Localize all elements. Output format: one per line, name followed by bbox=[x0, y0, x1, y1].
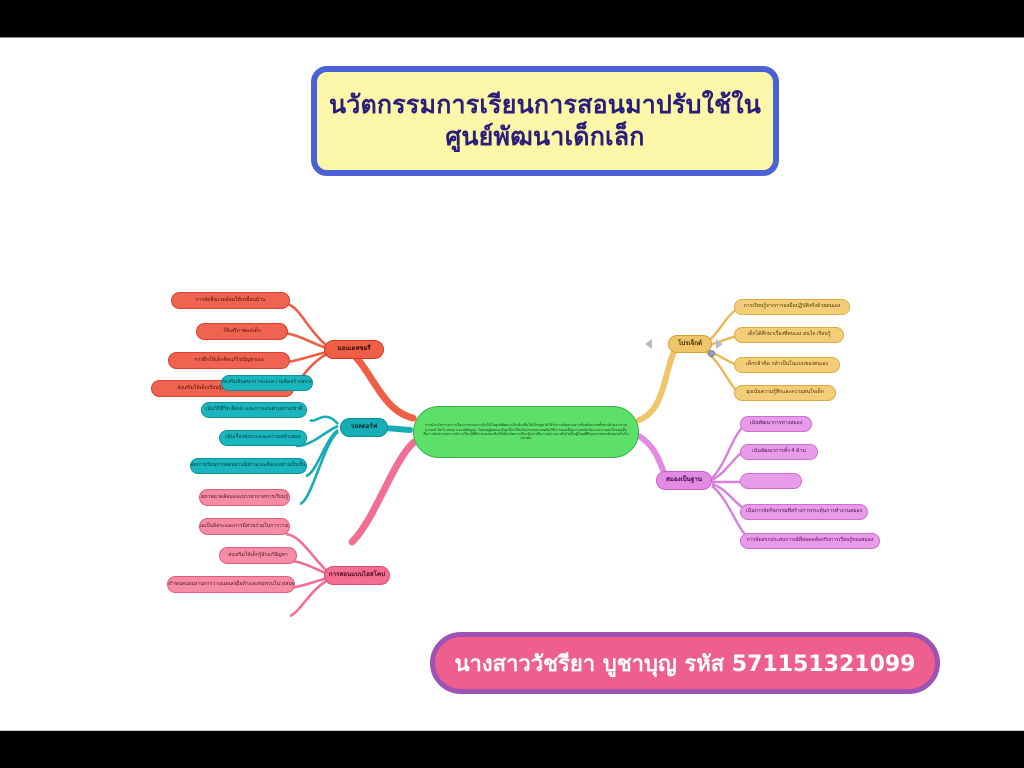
leaf-label-highscope-3: ส่งเสริมให้เด็กรู้จักแก้ปัญหา bbox=[228, 553, 287, 558]
slide-root: นวัตกรรมการเรียนการสอนมาปรับใช้ใน ศูนย์พ… bbox=[0, 0, 1024, 768]
leaf-node-montessori-1[interactable]: การจัดสิ่งแวดล้อมให้เหมือนบ้าน bbox=[171, 292, 290, 309]
letterbox-top bbox=[0, 0, 1024, 37]
branch-label-highscope: การสอนแบบไฮสโคป bbox=[329, 572, 385, 579]
leaf-label-project-2: เด็กได้ศึกษาเรื่องที่ตนเอง สนใจ เรียนรู้ bbox=[748, 332, 831, 337]
leaf-label-project-1: การเรียนรู้จากการลงมือปฏิบัติจริงด้วยตนเ… bbox=[744, 304, 841, 309]
leaf-node-montessori-2[interactable]: ให้เสรีภาพแก่เด็ก bbox=[196, 323, 288, 340]
leaf-node-project-2[interactable]: เด็กได้ศึกษาเรื่องที่ตนเอง สนใจ เรียนรู้ bbox=[734, 327, 844, 343]
leaf-node-highscope-3[interactable]: ส่งเสริมให้เด็กรู้จักแก้ปัญหา bbox=[219, 547, 297, 564]
leaf-label-brain-based-4: เน้นการจัดกิจกรรมที่สร้างการกระตุ้นการทำ… bbox=[746, 509, 862, 514]
branch-label-waldorf: วอลดอร์ฟ bbox=[351, 424, 377, 431]
leaf-label-brain-based-5: การจัดสรรประสบการณ์ที่สอดคล้องกับการเรีย… bbox=[747, 538, 874, 543]
branch-label-montessori: มอนเตสซอรี่ bbox=[337, 346, 370, 353]
branch-label-brain-based: สมองเป็นฐาน bbox=[666, 477, 702, 484]
leaf-node-waldorf-2[interactable]: เน้นวิถีชีวิต ศิลปะ และการเล่นตามธรรมชาต… bbox=[201, 402, 307, 418]
leaf-label-highscope-1: สภาพแวดล้อมและบรรยากาศการเรียนรู้ bbox=[201, 495, 288, 500]
leaf-label-brain-based-1: เน้นพัฒนาการทางสมอง bbox=[750, 421, 802, 426]
leaf-node-brain-based-1[interactable]: เน้นพัฒนาการทางสมอง bbox=[740, 416, 812, 432]
leaf-label-highscope-2: ความเป็นอิสระและการมีส่วนร่วมในการวางแผน bbox=[199, 524, 290, 529]
letterbox-bottom bbox=[0, 731, 1024, 768]
leaf-node-waldorf-1[interactable]: ส่งเสริมจินตนาการและความคิดสร้างสรรค์ bbox=[221, 375, 313, 391]
mindmap: การนำนวัตกรรมการเรียนการสอนมาปรับใช้ในศู… bbox=[0, 38, 1024, 731]
leaf-label-waldorf-4: การจัดการเรียนการสอนผ่านนิทานและศิลปะอย่… bbox=[190, 463, 307, 468]
leaf-node-project-1[interactable]: การเรียนรู้จากการลงมือปฏิบัติจริงด้วยตนเ… bbox=[734, 299, 850, 315]
slide-canvas: นวัตกรรมการเรียนการสอนมาปรับใช้ใน ศูนย์พ… bbox=[0, 37, 1024, 731]
leaf-node-highscope-4[interactable]: การกำหนดแผนงานการวางแผนลงมือทำและทบทวนใน… bbox=[167, 576, 295, 593]
leaf-node-waldorf-3[interactable]: เน้นเรื่องจังหวะและความสม่ำเสมอ bbox=[219, 430, 307, 446]
slide-footer-box: นางสาววัชรียา บูชาบุญ รหัส 571151321099 bbox=[430, 632, 940, 694]
branch-node-montessori[interactable]: มอนเตสซอรี่ bbox=[324, 340, 384, 359]
leaf-node-montessori-3[interactable]: การฝึกให้เด็กคิดแก้ไขปัญหาเอง bbox=[168, 352, 290, 369]
branch-node-brain-based[interactable]: สมองเป็นฐาน bbox=[656, 471, 712, 490]
leaf-node-highscope-1[interactable]: สภาพแวดล้อมและบรรยากาศการเรียนรู้ bbox=[199, 489, 290, 506]
leaf-label-brain-based-2: เน้นพัฒนาการทั้ง 4 ด้าน bbox=[752, 449, 806, 454]
leaf-label-waldorf-1: ส่งเสริมจินตนาการและความคิดสร้างสรรค์ bbox=[221, 380, 313, 385]
leaf-label-waldorf-3: เน้นเรื่องจังหวะและความสม่ำเสมอ bbox=[225, 435, 300, 440]
leaf-node-brain-based-3[interactable] bbox=[740, 473, 802, 489]
leaf-label-highscope-4: การกำหนดแผนงานการวางแผนลงมือทำและทบทวนใน… bbox=[167, 582, 295, 587]
leaf-node-brain-based-2[interactable]: เน้นพัฒนาการทั้ง 4 ด้าน bbox=[740, 444, 818, 460]
leaf-label-montessori-1: การจัดสิ่งแวดล้อมให้เหมือนบ้าน bbox=[196, 298, 266, 303]
dot-icon-project-connector[interactable] bbox=[708, 350, 715, 357]
leaf-node-project-4[interactable]: มุ่งเน้นความรู้สึกและความสนใจเด็ก bbox=[734, 385, 836, 401]
mindmap-center-node[interactable]: การนำนวัตกรรมการเรียนการสอนมาปรับใช้ในศู… bbox=[413, 406, 639, 458]
leaf-node-project-3[interactable]: เด็กกล้าคิด กล้าเป็นในแบบของตนเอง bbox=[734, 357, 840, 373]
branch-label-project: โปรเจ็กต์ bbox=[678, 341, 702, 348]
leaf-label-waldorf-2: เน้นวิถีชีวิต ศิลปะ และการเล่นตามธรรมชาต… bbox=[205, 407, 302, 412]
triangle-right-icon-project-expand[interactable] bbox=[716, 339, 723, 349]
leaf-label-montessori-2: ให้เสรีภาพแก่เด็ก bbox=[223, 329, 261, 334]
triangle-left-icon-project-collapse[interactable] bbox=[645, 339, 652, 349]
branch-node-highscope[interactable]: การสอนแบบไฮสโคป bbox=[324, 566, 390, 585]
leaf-node-highscope-2[interactable]: ความเป็นอิสระและการมีส่วนร่วมในการวางแผน bbox=[199, 518, 290, 535]
leaf-node-waldorf-4[interactable]: การจัดการเรียนการสอนผ่านนิทานและศิลปะอย่… bbox=[190, 458, 307, 474]
leaf-label-montessori-3: การฝึกให้เด็กคิดแก้ไขปัญหาเอง bbox=[195, 358, 264, 363]
leaf-label-project-4: มุ่งเน้นความรู้สึกและความสนใจเด็ก bbox=[746, 390, 824, 395]
branch-node-waldorf[interactable]: วอลดอร์ฟ bbox=[340, 418, 388, 437]
leaf-node-brain-based-5[interactable]: การจัดสรรประสบการณ์ที่สอดคล้องกับการเรีย… bbox=[740, 533, 880, 549]
mindmap-center-label: การนำนวัตกรรมการเรียนการสอนมาปรับใช้ในศู… bbox=[423, 423, 629, 440]
leaf-label-project-3: เด็กกล้าคิด กล้าเป็นในแบบของตนเอง bbox=[746, 362, 828, 367]
leaf-node-brain-based-4[interactable]: เน้นการจัดกิจกรรมที่สร้างการกระตุ้นการทำ… bbox=[740, 504, 868, 520]
slide-footer-text: นางสาววัชรียา บูชาบุญ รหัส 571151321099 bbox=[455, 646, 916, 681]
branch-node-project[interactable]: โปรเจ็กต์ bbox=[668, 335, 712, 353]
